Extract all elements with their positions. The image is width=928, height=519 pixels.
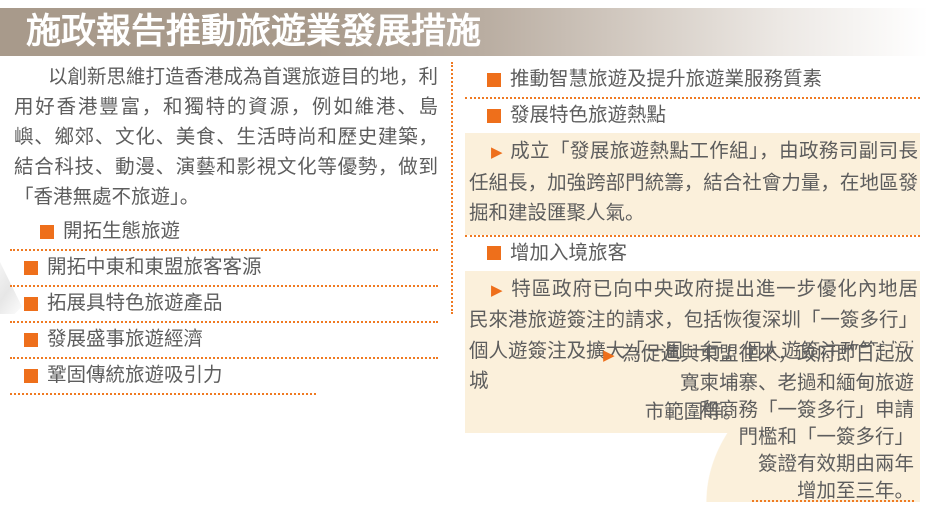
left-measure-list: 開拓生態旅遊 開拓中東和東盟旅客客源 拓展具特色旅遊產品 發展盛事旅遊經濟 鞏固… [10,215,442,395]
square-bullet-icon [40,225,54,239]
list-item-label: 開拓生態旅遊 [63,218,180,245]
item-divider [10,393,316,395]
square-bullet-icon [24,297,38,311]
list-item-label: 開拓中東和東盟旅客客源 [47,254,262,281]
detail-paragraph-1-text: 成立「發展旅遊熱點工作組」，由政務司副司長任組長，加強跨部門統籌，結合社會力量，… [469,141,918,224]
detail-line: ▶ 為促進與東盟往來，政府即日起放 [465,341,914,370]
square-bullet-icon [487,109,501,123]
list-item[interactable]: 開拓中東和東盟旅客客源 [10,251,442,285]
detail-line-text: 為促進與東盟往來，政府即日起放 [621,344,914,365]
list-item[interactable]: 開拓生態旅遊 [10,215,442,249]
square-bullet-icon [24,333,38,347]
detail-line-text: 門檻和「一簽多行」 [738,427,914,448]
list-item[interactable]: 發展盛事旅遊經濟 [10,323,442,357]
detail-paragraph-3: ▶ 為促進與東盟往來，政府即日起放 寬柬埔寨、老撾和緬甸旅遊 和商務「一簽多行」… [465,337,920,502]
detail-paragraph-3-text: ▶ 為促進與東盟往來，政府即日起放 寬柬埔寨、老撾和緬甸旅遊 和商務「一簽多行」… [465,337,920,502]
square-bullet-icon [487,246,501,260]
detail-line: 和商務「一簽多行」申請 [465,397,914,424]
item-divider [752,500,914,502]
detail-line-text: 和商務「一簽多行」申請 [699,400,914,421]
list-item[interactable]: 發展特色旅遊熱點 [465,99,920,133]
column-divider [451,62,453,314]
square-bullet-icon [24,369,38,383]
list-item-label: 發展特色旅遊熱點 [510,102,666,129]
list-item[interactable]: 推動智慧旅遊及提升旅遊業服務質素 [465,63,920,97]
triangle-right-icon: ▶ [491,145,505,161]
list-item-label: 發展盛事旅遊經濟 [47,326,203,353]
infographic-page: 施政報告推動旅遊業發展措施 以創新思維打造香港成為首選旅遊目的地，利用好香港豐富… [0,0,928,519]
detail-line-text: 寬柬埔寨、老撾和緬甸旅遊 [680,373,914,394]
square-bullet-icon [24,261,38,275]
title-banner: 施政報告推動旅遊業發展措施 [0,8,928,56]
detail-line-text: 增加至三年。 [797,481,914,502]
list-item-label: 增加入境旅客 [510,240,627,267]
triangle-right-icon: ▶ [603,348,617,364]
page-title: 施政報告推動旅遊業發展措施 [26,13,481,51]
detail-line-text: 簽證有效期由兩年 [758,454,914,475]
detail-paragraph-1: ▶ 成立「發展旅遊熱點工作組」，由政務司副司長任組長，加強跨部門統籌，結合社會力… [465,133,920,235]
lead-paragraph: 以創新思維打造香港成為首選旅遊目的地，利用好香港豐富，和獨特的資源，例如維港、島… [10,63,442,213]
triangle-right-icon: ▶ [491,283,505,299]
square-bullet-icon [487,73,501,87]
detail-line: 簽證有效期由兩年 [465,451,914,478]
list-item[interactable]: 鞏固傳統旅遊吸引力 [10,359,442,393]
detail-line: 門檻和「一簽多行」 [465,424,914,451]
list-item[interactable]: 拓展具特色旅遊產品 [10,287,442,321]
left-column: 以創新思維打造香港成為首選旅遊目的地，利用好香港豐富，和獨特的資源，例如維港、島… [10,63,442,395]
detail-line: 寬柬埔寨、老撾和緬甸旅遊 [465,370,914,397]
list-item-label: 推動智慧旅遊及提升旅遊業服務質素 [510,66,822,93]
list-item-label: 鞏固傳統旅遊吸引力 [47,362,223,389]
list-item-label: 拓展具特色旅遊產品 [47,290,223,317]
list-item[interactable]: 增加入境旅客 [465,237,920,271]
